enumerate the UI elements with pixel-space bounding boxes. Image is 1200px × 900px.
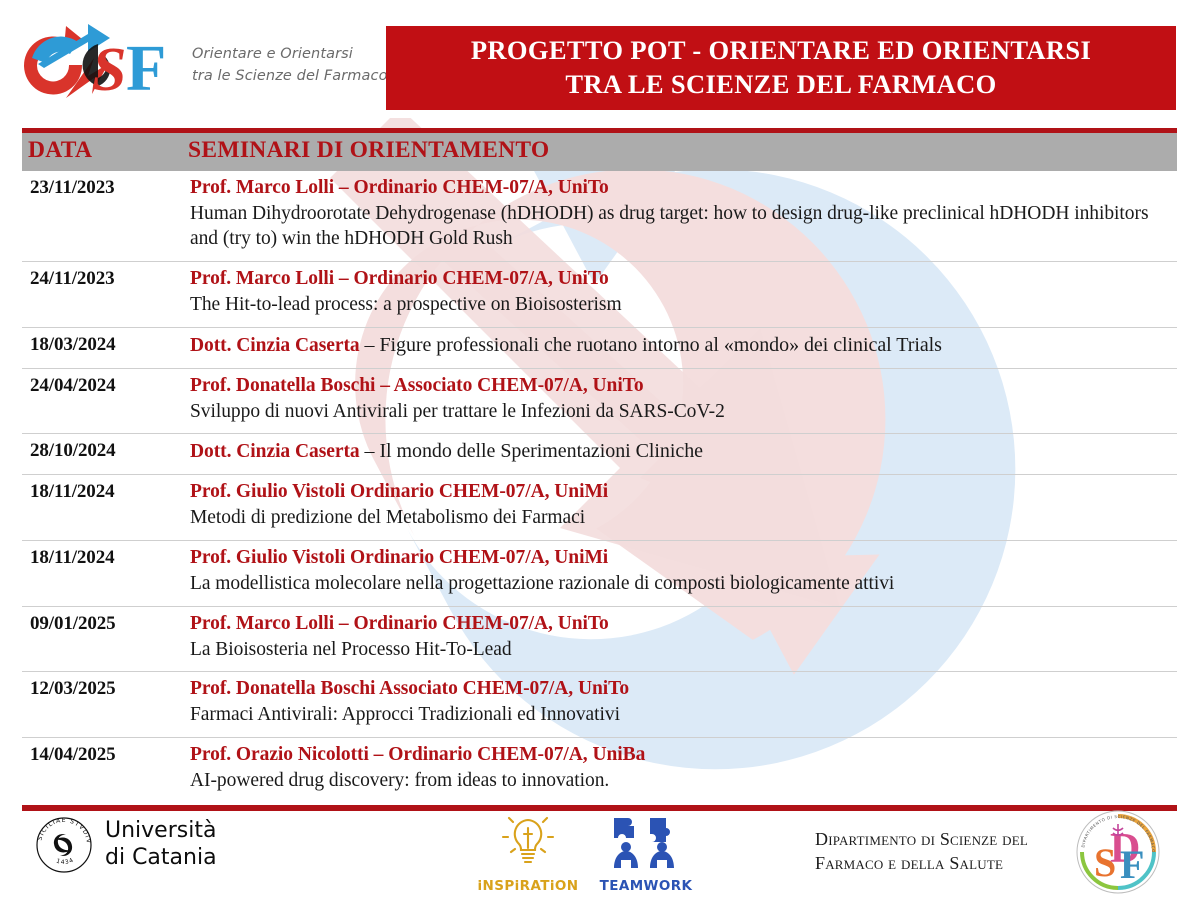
gsf-logo: S F Orientare e Orientarsi tra le Scienz… (22, 22, 377, 108)
teamwork-doodle: TEAMWORK (594, 814, 698, 894)
row-date: 28/10/2024 (22, 434, 182, 475)
title-line-2: TRA LE SCIENZE DEL FARMACO (565, 67, 996, 101)
svg-text:1434: 1434 (55, 857, 75, 867)
table-row: 28/10/2024Dott. Cinzia Caserta – Il mond… (22, 434, 1177, 475)
svg-text:F: F (126, 32, 166, 105)
row-seminar: Prof. Marco Lolli – Ordinario CHEM-07/A,… (182, 262, 1177, 328)
row-speaker: Prof. Giulio Vistoli Ordinario CHEM-07/A… (190, 479, 1173, 505)
title-line-1: PROGETTO POT - ORIENTARE ED ORIENTARSI (471, 33, 1091, 67)
row-talk-title: La Bioisosteria nel Processo Hit-To-Lead (190, 637, 1173, 663)
schedule-section: DATA SEMINARI DI ORIENTAMENTO 23/11/2023… (22, 128, 1177, 811)
department-line2: Farmaco e della Salute (815, 852, 1028, 876)
row-speaker-suffix: – Figure professionali che ruotano intor… (360, 334, 942, 356)
inspiration-label: iNSPiRATiON (472, 878, 584, 894)
department-line1: Dipartimento di Scienze del (815, 828, 1028, 852)
row-date: 23/11/2023 (22, 171, 182, 262)
department-name: Dipartimento di Scienze del Farmaco e de… (815, 828, 1028, 876)
seminars-table: DATA SEMINARI DI ORIENTAMENTO 23/11/2023… (22, 133, 1177, 803)
row-seminar: Prof. Orazio Nicolotti – Ordinario CHEM-… (182, 737, 1177, 802)
lightbulb-icon (493, 810, 563, 872)
row-speaker: Dott. Cinzia Caserta – Figure profession… (190, 332, 1173, 359)
row-date: 18/11/2024 (22, 475, 182, 541)
unict-name-line1: Università (105, 818, 217, 845)
table-head: DATA SEMINARI DI ORIENTAMENTO (22, 133, 1177, 171)
table-row: 14/04/2025Prof. Orazio Nicolotti – Ordin… (22, 737, 1177, 802)
table-row: 24/11/2023Prof. Marco Lolli – Ordinario … (22, 262, 1177, 328)
unict-logo: SICILIAE STVDIVM GENERALE 1434 Universit… (33, 814, 217, 876)
row-speaker-name: Prof. Giulio Vistoli Ordinario CHEM-07/A… (190, 547, 608, 568)
table-row: 09/01/2025Prof. Marco Lolli – Ordinario … (22, 606, 1177, 672)
table-row: 12/03/2025Prof. Donatella Boschi Associa… (22, 672, 1177, 738)
row-seminar: Prof. Marco Lolli – Ordinario CHEM-07/A,… (182, 171, 1177, 262)
inspiration-doodle: iNSPiRATiON (472, 810, 584, 894)
row-talk-title: La modellistica molecolare nella progett… (190, 571, 1173, 597)
table-row: 18/11/2024Prof. Giulio Vistoli Ordinario… (22, 540, 1177, 606)
row-date: 09/01/2025 (22, 606, 182, 672)
row-date: 12/03/2025 (22, 672, 182, 738)
column-header-date: DATA (22, 133, 182, 171)
unict-name: Università di Catania (105, 818, 217, 872)
row-speaker: Prof. Marco Lolli – Ordinario CHEM-07/A,… (190, 175, 1173, 201)
row-seminar: Prof. Donatella Boschi – Associato CHEM-… (182, 368, 1177, 434)
row-seminar: Dott. Cinzia Caserta – Figure profession… (182, 327, 1177, 368)
row-date: 18/03/2024 (22, 327, 182, 368)
row-date: 18/11/2024 (22, 540, 182, 606)
row-speaker: Prof. Orazio Nicolotti – Ordinario CHEM-… (190, 742, 1173, 768)
table-body: 23/11/2023Prof. Marco Lolli – Ordinario … (22, 171, 1177, 803)
row-speaker-name: Prof. Donatella Boschi – Associato CHEM-… (190, 375, 644, 396)
gsf-tagline-line1: Orientare e Orientarsi (192, 43, 388, 65)
table-header-row: DATA SEMINARI DI ORIENTAMENTO (22, 133, 1177, 171)
gsf-tagline: Orientare e Orientarsi tra le Scienze de… (192, 43, 388, 87)
row-speaker-name: Prof. Marco Lolli – Ordinario CHEM-07/A,… (190, 177, 609, 198)
row-speaker: Prof. Giulio Vistoli Ordinario CHEM-07/A… (190, 545, 1173, 571)
svg-text:F: F (1120, 842, 1144, 887)
row-talk-title: Farmaci Antivirali: Approcci Tradizional… (190, 702, 1173, 728)
column-header-seminars: SEMINARI DI ORIENTAMENTO (182, 133, 1177, 171)
row-speaker: Prof. Donatella Boschi Associato CHEM-07… (190, 676, 1173, 702)
row-seminar: Prof. Giulio Vistoli Ordinario CHEM-07/A… (182, 475, 1177, 541)
slide-root: S F Orientare e Orientarsi tra le Scienz… (0, 0, 1200, 900)
table-row: 18/03/2024Dott. Cinzia Caserta – Figure … (22, 327, 1177, 368)
unict-seal-icon: SICILIAE STVDIVM GENERALE 1434 (33, 814, 95, 876)
row-speaker-name: Dott. Cinzia Caserta (190, 441, 360, 462)
row-speaker-name: Prof. Giulio Vistoli Ordinario CHEM-07/A… (190, 481, 608, 502)
row-speaker-name: Prof. Orazio Nicolotti – Ordinario CHEM-… (190, 744, 645, 765)
row-talk-title: The Hit-to-lead process: a prospective o… (190, 292, 1173, 318)
gsf-tagline-line2: tra le Scienze del Farmaco (192, 65, 388, 87)
row-speaker: Dott. Cinzia Caserta – Il mondo delle Sp… (190, 438, 1173, 465)
row-seminar: Dott. Cinzia Caserta – Il mondo delle Sp… (182, 434, 1177, 475)
row-seminar: Prof. Donatella Boschi Associato CHEM-07… (182, 672, 1177, 738)
table-row: 23/11/2023Prof. Marco Lolli – Ordinario … (22, 171, 1177, 262)
table-row: 24/04/2024Prof. Donatella Boschi – Assoc… (22, 368, 1177, 434)
page-header: S F Orientare e Orientarsi tra le Scienz… (0, 0, 1200, 122)
row-talk-title: Human Dihydroorotate Dehydrogenase (hDHO… (190, 201, 1173, 252)
row-speaker-name: Dott. Cinzia Caserta (190, 335, 360, 356)
teamwork-puzzle-icon (608, 814, 684, 872)
row-speaker-name: Prof. Marco Lolli – Ordinario CHEM-07/A,… (190, 613, 609, 634)
unict-name-line2: di Catania (105, 845, 217, 872)
row-seminar: Prof. Marco Lolli – Ordinario CHEM-07/A,… (182, 606, 1177, 672)
row-speaker-suffix: – Il mondo delle Sperimentazioni Clinich… (360, 440, 703, 462)
dsf-department-logo-icon: DIPARTIMENTO DI SCIENZE DEL FARMACO E DE… (1072, 806, 1164, 898)
row-speaker: Prof. Donatella Boschi – Associato CHEM-… (190, 373, 1173, 399)
page-footer: SICILIAE STVDIVM GENERALE 1434 Universit… (0, 800, 1200, 900)
gsf-emblem-icon: S F (22, 24, 186, 106)
row-speaker-name: Prof. Donatella Boschi Associato CHEM-07… (190, 678, 629, 699)
table-row: 18/11/2024Prof. Giulio Vistoli Ordinario… (22, 475, 1177, 541)
row-seminar: Prof. Giulio Vistoli Ordinario CHEM-07/A… (182, 540, 1177, 606)
row-speaker: Prof. Marco Lolli – Ordinario CHEM-07/A,… (190, 266, 1173, 292)
svg-text:S: S (1094, 840, 1116, 885)
row-talk-title: Sviluppo di nuovi Antivirali per trattar… (190, 399, 1173, 425)
row-date: 24/04/2024 (22, 368, 182, 434)
row-date: 24/11/2023 (22, 262, 182, 328)
row-talk-title: Metodi di predizione del Metabolismo dei… (190, 505, 1173, 531)
row-speaker: Prof. Marco Lolli – Ordinario CHEM-07/A,… (190, 611, 1173, 637)
teamwork-label: TEAMWORK (594, 878, 698, 894)
row-speaker-name: Prof. Marco Lolli – Ordinario CHEM-07/A,… (190, 268, 609, 289)
title-banner: PROGETTO POT - ORIENTARE ED ORIENTARSI T… (386, 26, 1176, 110)
row-talk-title: AI-powered drug discovery: from ideas to… (190, 768, 1173, 794)
svg-text:S: S (92, 36, 126, 104)
row-date: 14/04/2025 (22, 737, 182, 802)
